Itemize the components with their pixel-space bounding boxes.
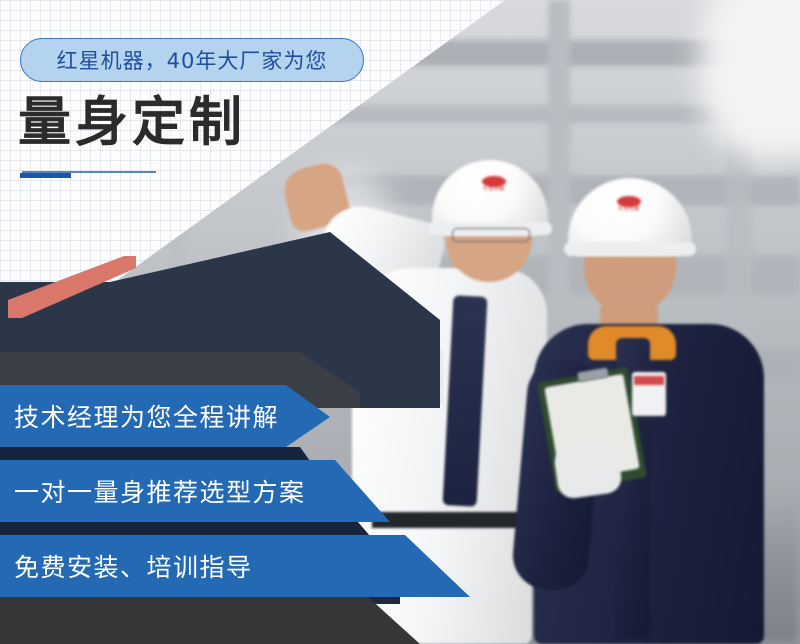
feature-bar-2[interactable]: 一对一量身推荐选型方案: [0, 460, 390, 522]
worker-left-glasses: [452, 228, 530, 242]
feature-bar-1[interactable]: 技术经理为您全程讲解: [0, 385, 330, 447]
title-underline-thick: [20, 173, 71, 178]
page-title: 量身定制: [18, 95, 246, 151]
feature-bar-2-label: 一对一量身推荐选型方案: [0, 473, 306, 509]
feature-bar-1-label: 技术经理为您全程讲解: [0, 398, 279, 434]
bar-divider-1: [0, 447, 310, 461]
feature-bar-3[interactable]: 免费安装、培训指导: [0, 535, 470, 597]
helmet-logo-text-left: 红星机器: [474, 187, 514, 192]
feature-bar-3-label: 免费安装、培训指导: [0, 548, 253, 584]
promo-banner: 红星机器 红星机器 红星机器，40年大厂家为您 量身定制: [0, 0, 800, 644]
brand-pill: 红星机器，40年大厂家为您: [20, 38, 364, 82]
helmet-logo-text-right: 红星机器: [608, 207, 650, 212]
brand-pill-text: 红星机器，40年大厂家为您: [57, 45, 328, 75]
worker-right-glove: [553, 440, 624, 500]
worker-right-helmet-logo: 红星机器: [608, 196, 650, 214]
worker-right-badge-strip: [634, 376, 664, 385]
worker-left-helmet-logo: 红星机器: [474, 176, 514, 194]
bar-divider-2: [0, 522, 370, 536]
footer-strip: [0, 597, 420, 644]
worker-right-helmet-brim: [564, 242, 696, 256]
